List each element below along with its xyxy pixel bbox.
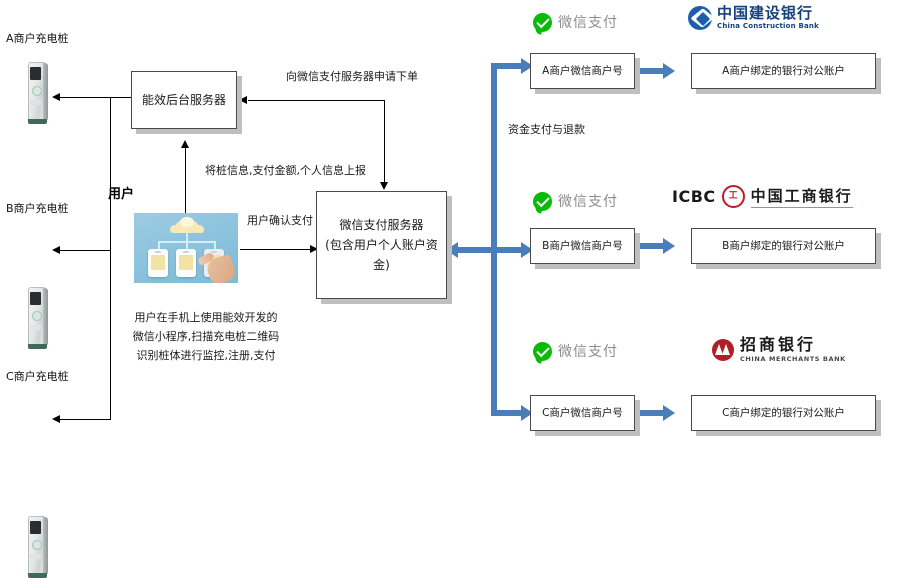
label-settle-refund: 资金支付与退款 — [508, 121, 585, 137]
bank-account-box-c[interactable]: C商户绑定的银行对公账户 — [691, 395, 876, 431]
icbc-seal-char: 工 — [729, 192, 738, 201]
order-request-line-v — [384, 100, 385, 188]
report-info-arrow — [181, 140, 189, 148]
merchant-a-label: A商户微信商户号 — [538, 62, 627, 80]
settlement-branch-a — [491, 63, 523, 69]
merchant-c-to-bank-arrow — [663, 405, 675, 421]
settlement-bus-trunk — [491, 63, 497, 416]
merchant-box-c[interactable]: C商户微信商户号 — [530, 395, 635, 431]
wechat-pay-text-a: 微信支付 — [558, 12, 618, 32]
bank-account-box-a[interactable]: A商户绑定的银行对公账户 — [691, 53, 876, 89]
label-apply-order: 向微信支付服务器申请下单 — [286, 68, 418, 84]
ccb-name-cn: 中国建设银行 — [717, 6, 819, 21]
pile-arrow-b — [52, 246, 60, 254]
charging-pile-icon-c — [27, 516, 49, 578]
merchant-box-a[interactable]: A商户微信商户号 — [530, 53, 635, 89]
pile-branch-b — [60, 250, 111, 251]
wechat-server-line-2: (包含用户个人账户资 — [325, 235, 438, 255]
pile-branch-a — [60, 97, 111, 98]
backend-server-label: 能效后台服务器 — [138, 88, 230, 112]
bank-b-label: B商户绑定的银行对公账户 — [718, 237, 849, 255]
bank-c-label: C商户绑定的银行对公账户 — [718, 404, 849, 422]
cmb-name-cn: 招商银行 — [740, 337, 846, 353]
user-note-line-1: 用户在手机上使用能效开发的 — [108, 308, 304, 327]
merchant-c-label: C商户微信商户号 — [538, 404, 627, 422]
wechat-server-line-3: 金) — [325, 255, 438, 275]
ccb-mark-icon — [688, 6, 712, 30]
wechat-server-line-1: 微信支付服务器 — [325, 215, 438, 235]
user-note-line-2: 微信小程序,扫描充电桩二维码 — [108, 327, 304, 346]
icbc-seal-icon: 工 — [722, 185, 745, 208]
wechat-pay-icon-b — [533, 192, 552, 211]
label-confirm-pay: 用户确认支付 — [247, 212, 313, 228]
order-request-line-h — [248, 100, 385, 101]
pile-arrow-c — [52, 415, 60, 423]
bank-account-box-b[interactable]: B商户绑定的银行对公账户 — [691, 228, 876, 264]
backend-server-box[interactable]: 能效后台服务器 — [131, 71, 237, 129]
order-request-arrow-into-wechat — [380, 182, 388, 190]
wechat-pay-logo-c: 微信支付 — [533, 341, 618, 361]
pile-bus-vertical — [110, 98, 111, 420]
ccb-name-en: China Construction Bank — [717, 23, 819, 30]
ccb-logo-icon: 中国建设银行 China Construction Bank — [688, 6, 819, 30]
pile-branch-c — [60, 419, 111, 420]
icbc-name-en: ICBC — [672, 187, 716, 206]
pile-label-c: C商户充电桩 — [6, 368, 69, 384]
cmb-name-en: CHINA MERCHANTS BANK — [740, 356, 846, 363]
wechat-pay-server-box[interactable]: 微信支付服务器 (包含用户个人账户资 金) — [316, 191, 447, 299]
pile-arrow-a — [52, 93, 60, 101]
wechat-pay-logo-a: 微信支付 — [533, 12, 618, 32]
merchant-b-to-bank-arrow — [663, 238, 675, 254]
user-note: 用户在手机上使用能效开发的 微信小程序,扫描充电桩二维码 识别桩体进行监控,注册… — [108, 308, 304, 365]
merchant-b-to-bank-line — [637, 243, 665, 249]
icbc-name-cn: 中国工商银行 — [751, 185, 853, 208]
wechat-pay-icon-c — [533, 342, 552, 361]
merchant-a-to-bank-line — [637, 68, 665, 74]
icbc-logo-icon: ICBC 工 中国工商银行 — [672, 185, 853, 208]
cmb-mark-icon — [712, 339, 734, 361]
diagram-canvas: A商户充电桩 B商户充电桩 C商户充电桩 能效后台服务器 向微信支付服务器申请下… — [0, 0, 900, 458]
wechat-pay-text-b: 微信支付 — [558, 191, 618, 211]
wechat-pay-logo-b: 微信支付 — [533, 191, 618, 211]
wechat-pay-icon-a — [533, 13, 552, 32]
merchant-box-b[interactable]: B商户微信商户号 — [530, 228, 635, 264]
pile-label-b: B商户充电桩 — [6, 200, 69, 216]
merchant-a-to-bank-arrow — [663, 63, 675, 79]
user-phones-photo — [134, 213, 238, 283]
bank-a-label: A商户绑定的银行对公账户 — [718, 62, 849, 80]
merchant-c-to-bank-line — [637, 410, 665, 416]
backend-to-bus-link — [110, 97, 132, 98]
charging-pile-icon-a — [27, 62, 49, 124]
user-note-line-3: 识别桩体进行监控,注册,支付 — [108, 346, 304, 365]
confirm-pay-line — [240, 249, 312, 250]
report-info-line — [185, 148, 186, 215]
merchant-b-label: B商户微信商户号 — [538, 237, 627, 255]
cmb-logo-icon: 招商银行 CHINA MERCHANTS BANK — [712, 337, 846, 363]
label-report-info: 将桩信息,支付金额,个人信息上报 — [205, 162, 366, 178]
charging-pile-icon-b — [27, 287, 49, 349]
settlement-branch-c — [491, 410, 523, 416]
wechat-pay-text-c: 微信支付 — [558, 341, 618, 361]
settlement-branch-b — [447, 247, 523, 253]
pile-label-a: A商户充电桩 — [6, 30, 69, 46]
user-label: 用户 — [108, 183, 134, 202]
